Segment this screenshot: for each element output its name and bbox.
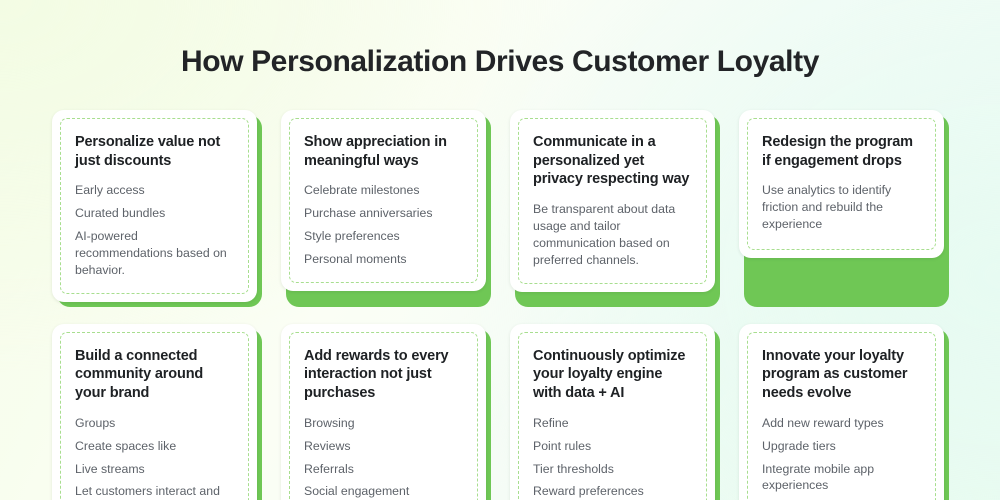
list-item: Purchase anniversaries xyxy=(304,205,464,222)
list-item: Create spaces like xyxy=(75,438,235,455)
card-heading: Innovate your loyalty program as custome… xyxy=(762,347,922,403)
card-surface: Add rewards to every interaction not jus… xyxy=(281,324,486,500)
card-inner: Show appreciation in meaningful ways Cel… xyxy=(289,118,478,283)
list-item: Curated bundles xyxy=(75,205,235,222)
card-point-list: Early access Curated bundles AI-powered … xyxy=(75,182,235,279)
card-2: Show appreciation in meaningful ways Cel… xyxy=(281,110,486,302)
list-item: Social engagement xyxy=(304,483,464,500)
list-item: Let customers interact and feel part of … xyxy=(75,483,235,500)
card-point-list: Browsing Reviews Referrals Social engage… xyxy=(304,415,464,500)
list-item: AI-powered recommendations based on beha… xyxy=(75,228,235,279)
card-grid: Personalize value not just discounts Ear… xyxy=(52,110,948,500)
card-surface: Continuously optimize your loyalty engin… xyxy=(510,324,715,500)
card-heading: Communicate in a personalized yet privac… xyxy=(533,133,693,189)
list-item: Add new reward types xyxy=(762,415,922,432)
card-inner: Innovate your loyalty program as custome… xyxy=(747,332,936,500)
card-point-list: Use analytics to identify friction and r… xyxy=(762,182,922,233)
list-item: Tier thresholds xyxy=(533,461,693,478)
card-heading: Add rewards to every interaction not jus… xyxy=(304,347,464,403)
card-8: Innovate your loyalty program as custome… xyxy=(739,324,944,500)
list-item: Early access xyxy=(75,182,235,199)
list-item: Reward preferences xyxy=(533,483,693,500)
card-point-list: Groups Create spaces like Live streams L… xyxy=(75,415,235,500)
card-5: Build a connected community around your … xyxy=(52,324,257,500)
card-surface: Personalize value not just discounts Ear… xyxy=(52,110,257,302)
list-item: Groups xyxy=(75,415,235,432)
card-surface: Innovate your loyalty program as custome… xyxy=(739,324,944,500)
card-surface: Show appreciation in meaningful ways Cel… xyxy=(281,110,486,291)
list-item: Personal moments xyxy=(304,251,464,268)
card-heading: Show appreciation in meaningful ways xyxy=(304,133,464,170)
card-surface: Build a connected community around your … xyxy=(52,324,257,500)
card-surface: Communicate in a personalized yet privac… xyxy=(510,110,715,292)
card-1: Personalize value not just discounts Ear… xyxy=(52,110,257,302)
list-item: Celebrate milestones xyxy=(304,182,464,199)
list-item: Referrals xyxy=(304,461,464,478)
list-item: Upgrade tiers xyxy=(762,438,922,455)
card-point-list: Celebrate milestones Purchase anniversar… xyxy=(304,182,464,268)
card-point-list: Refine Point rules Tier thresholds Rewar… xyxy=(533,415,693,500)
list-item: Refine xyxy=(533,415,693,432)
infographic-root: How Personalization Drives Customer Loya… xyxy=(0,0,1000,500)
list-item: Browsing xyxy=(304,415,464,432)
list-item: Reviews xyxy=(304,438,464,455)
list-item: Use analytics to identify friction and r… xyxy=(762,182,922,233)
list-item: Style preferences xyxy=(304,228,464,245)
card-6: Add rewards to every interaction not jus… xyxy=(281,324,486,500)
card-4: Redesign the program if engagement drops… xyxy=(739,110,944,302)
card-point-list: Be transparent about data usage and tail… xyxy=(533,201,693,269)
list-item: Point rules xyxy=(533,438,693,455)
card-surface: Redesign the program if engagement drops… xyxy=(739,110,944,258)
card-heading: Personalize value not just discounts xyxy=(75,133,235,170)
card-7: Continuously optimize your loyalty engin… xyxy=(510,324,715,500)
card-point-list: Add new reward types Upgrade tiers Integ… xyxy=(762,415,922,500)
card-heading: Build a connected community around your … xyxy=(75,347,235,403)
card-inner: Personalize value not just discounts Ear… xyxy=(60,118,249,294)
card-inner: Communicate in a personalized yet privac… xyxy=(518,118,707,284)
card-inner: Build a connected community around your … xyxy=(60,332,249,500)
card-3: Communicate in a personalized yet privac… xyxy=(510,110,715,302)
list-item: Be transparent about data usage and tail… xyxy=(533,201,693,269)
list-item: Live streams xyxy=(75,461,235,478)
card-inner: Add rewards to every interaction not jus… xyxy=(289,332,478,500)
list-item: Integrate mobile app experiences xyxy=(762,461,922,495)
card-heading: Continuously optimize your loyalty engin… xyxy=(533,347,693,403)
card-inner: Continuously optimize your loyalty engin… xyxy=(518,332,707,500)
page-title: How Personalization Drives Customer Loya… xyxy=(0,44,1000,80)
card-heading: Redesign the program if engagement drops xyxy=(762,133,922,170)
card-inner: Redesign the program if engagement drops… xyxy=(747,118,936,250)
